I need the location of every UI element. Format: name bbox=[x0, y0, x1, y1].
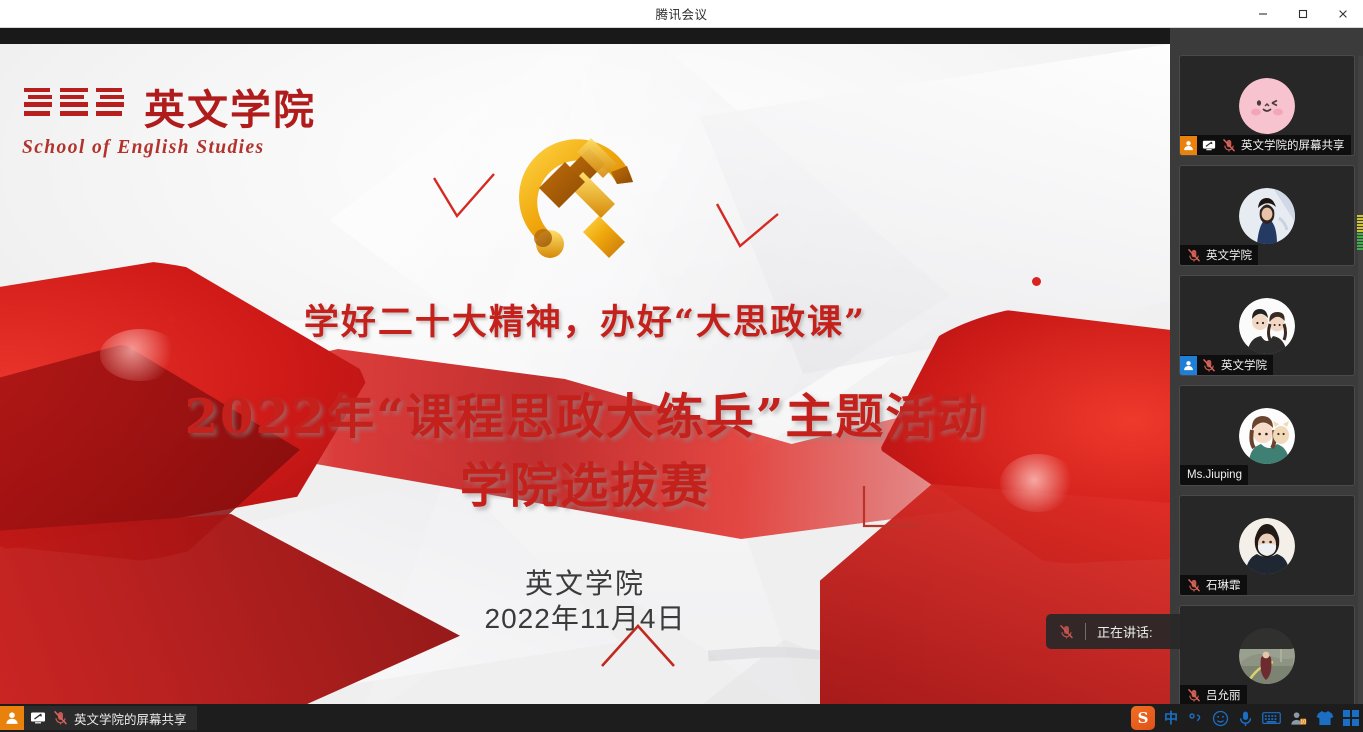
participant-tile[interactable]: Ms.Jiuping bbox=[1179, 385, 1355, 486]
ime-chinese-mode-icon[interactable]: 中 bbox=[1164, 708, 1178, 728]
window-title: 腾讯会议 bbox=[655, 4, 707, 23]
audio-level-meter bbox=[1357, 188, 1363, 250]
participant-name: 英文学院的屏幕共享 bbox=[1241, 137, 1345, 153]
mic-muted-icon bbox=[1186, 577, 1202, 593]
slide-organization: 英文学院 bbox=[0, 562, 1170, 602]
participant-tile[interactable]: 英文学院 bbox=[1179, 275, 1355, 376]
window-controls bbox=[1243, 0, 1363, 28]
avatar bbox=[1239, 408, 1295, 464]
minimize-button[interactable] bbox=[1243, 0, 1283, 28]
system-tray: S 中 10 bbox=[1131, 704, 1359, 732]
speaking-label: 正在讲话: bbox=[1097, 622, 1153, 641]
screen-share-icon bbox=[1201, 137, 1217, 153]
maximize-button[interactable] bbox=[1283, 0, 1323, 28]
ime-toolbox-icon[interactable] bbox=[1343, 710, 1359, 726]
window-title-bar: 腾讯会议 bbox=[0, 0, 1363, 28]
taskbar-share-label: 英文学院的屏幕共享 bbox=[74, 709, 187, 728]
participant-name: 英文学院 bbox=[1206, 247, 1252, 263]
slide-title-line2: 学院选拔赛 bbox=[0, 446, 1170, 516]
slide-text-block: 学好二十大精神，办好“大思政课” 2022年“课程思政大练兵”主题活动 学院选拔… bbox=[0, 44, 1170, 704]
participant-tile[interactable]: 石琳霏 bbox=[1179, 495, 1355, 596]
presentation-slide: 英文学院 School of English Studies bbox=[0, 44, 1170, 704]
mic-muted-icon bbox=[1201, 357, 1217, 373]
ime-skin-icon[interactable] bbox=[1316, 710, 1334, 726]
participant-name: 吕允丽 bbox=[1206, 687, 1241, 703]
close-button[interactable] bbox=[1323, 0, 1363, 28]
host-badge-icon bbox=[1180, 136, 1197, 155]
sogou-ime-logo-icon[interactable]: S bbox=[1131, 706, 1155, 730]
ime-user-account-icon[interactable]: 10 bbox=[1290, 710, 1307, 726]
participant-tile[interactable]: 英文学院的屏幕共享 bbox=[1179, 55, 1355, 156]
participant-namebar: 英文学院的屏幕共享 bbox=[1180, 135, 1351, 155]
taskbar: 英文学院的屏幕共享 S 中 10 bbox=[0, 704, 1363, 732]
mic-muted-icon bbox=[1186, 687, 1202, 703]
host-badge-icon bbox=[0, 706, 24, 730]
mic-muted-icon[interactable] bbox=[52, 710, 68, 726]
participant-name: 石琳霏 bbox=[1206, 577, 1241, 593]
ime-voice-input-icon[interactable] bbox=[1238, 710, 1253, 727]
mic-muted-icon bbox=[1221, 137, 1237, 153]
participant-tile[interactable]: 英文学院 bbox=[1179, 165, 1355, 266]
svg-text:10: 10 bbox=[1300, 719, 1306, 725]
screen-share-icon[interactable] bbox=[30, 710, 46, 726]
sidebar-scrollbar[interactable] bbox=[1358, 56, 1363, 732]
avatar bbox=[1239, 188, 1295, 244]
mic-muted-icon bbox=[1058, 624, 1074, 640]
taskbar-share-item[interactable]: 英文学院的屏幕共享 bbox=[0, 706, 197, 730]
participant-namebar: 吕允丽 bbox=[1180, 685, 1247, 705]
cohost-badge-icon bbox=[1180, 356, 1197, 375]
speaking-indicator: 正在讲话: bbox=[1046, 614, 1296, 649]
participant-namebar: 英文学院 bbox=[1180, 245, 1258, 265]
slide-date: 2022年11月4日 bbox=[0, 597, 1170, 637]
participant-name: Ms.Jiuping bbox=[1187, 469, 1242, 481]
ime-soft-keyboard-icon[interactable] bbox=[1262, 711, 1281, 725]
participant-namebar: Ms.Jiuping bbox=[1180, 465, 1248, 485]
shared-screen-letterbox bbox=[0, 28, 1170, 44]
participant-namebar: 英文学院 bbox=[1180, 355, 1273, 375]
ime-emoji-icon[interactable] bbox=[1212, 710, 1229, 727]
participant-name: 英文学院 bbox=[1221, 357, 1267, 373]
slide-title-line1: 2022年“课程思政大练兵”主题活动 bbox=[0, 377, 1170, 447]
toast-divider bbox=[1085, 623, 1086, 640]
mic-muted-icon bbox=[1186, 247, 1202, 263]
avatar bbox=[1239, 78, 1295, 134]
slide-subtitle: 学好二十大精神，办好“大思政课” bbox=[0, 294, 1170, 345]
avatar bbox=[1239, 298, 1295, 354]
avatar bbox=[1239, 518, 1295, 574]
participant-namebar: 石琳霏 bbox=[1180, 575, 1247, 595]
ime-punctuation-icon[interactable] bbox=[1187, 710, 1203, 726]
shared-screen-stage[interactable]: 英文学院 School of English Studies bbox=[0, 28, 1170, 704]
